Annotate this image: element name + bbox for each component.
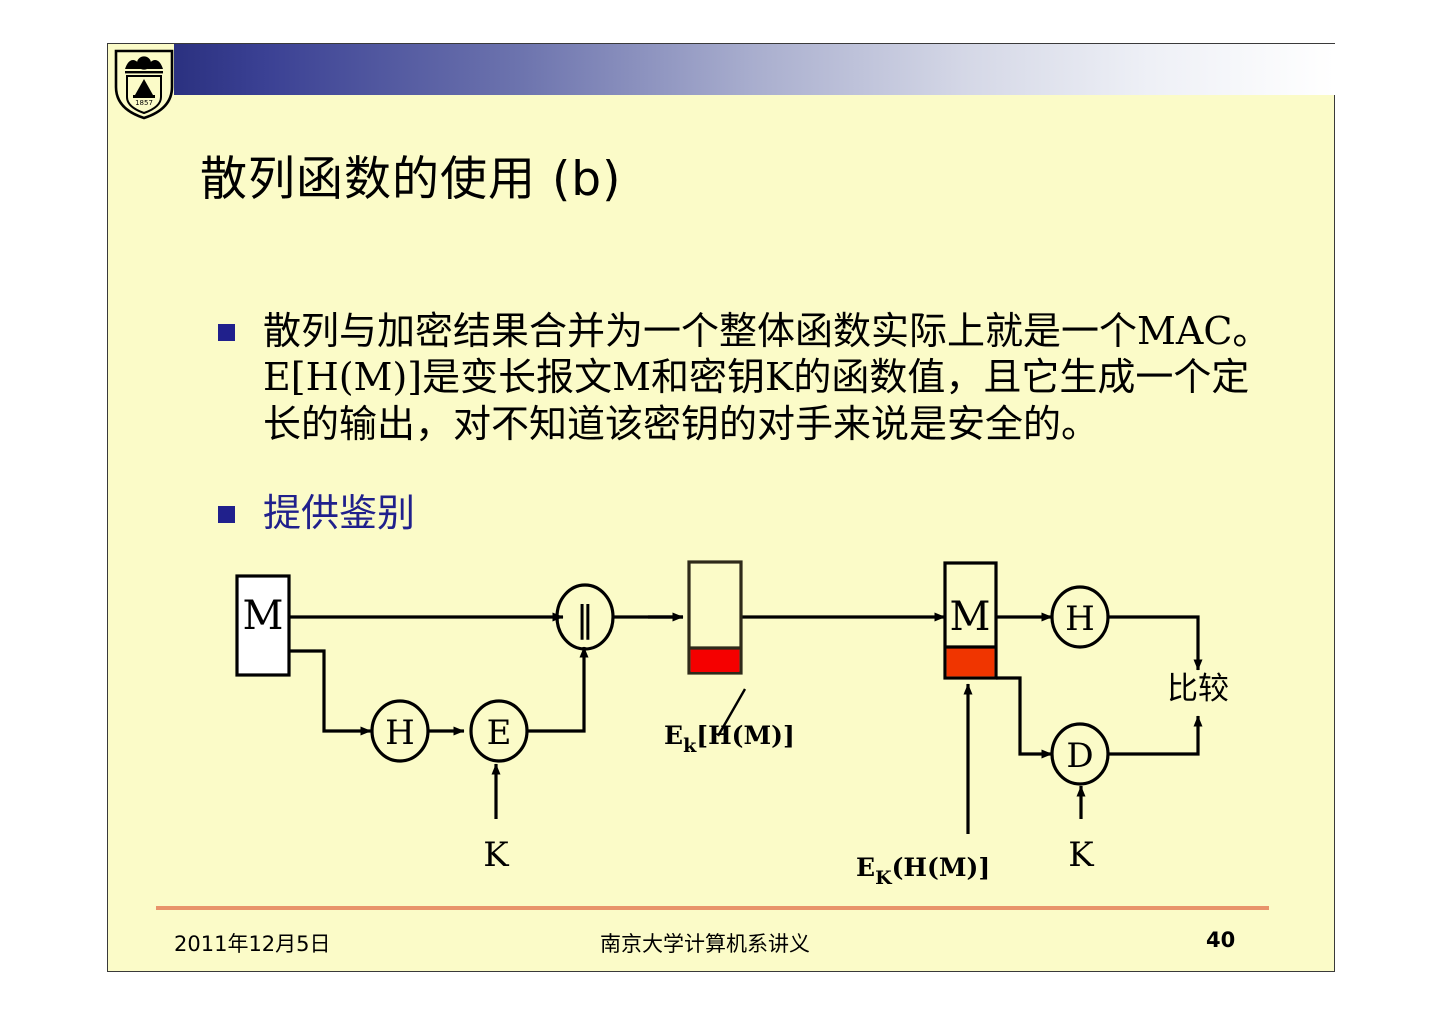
svg-text:EK(H(M)]: EK(H(M)] — [856, 853, 990, 889]
key-label-right: K — [1068, 835, 1094, 875]
decrypt-node-label: D — [1066, 736, 1093, 776]
concat-node-label: ‖ — [576, 599, 594, 640]
footer-center-text: 南京大学计算机系讲义 — [600, 928, 810, 958]
concat-node: ‖ — [557, 585, 613, 649]
cipher-callout-label: Ek[H(M)] — [664, 721, 795, 757]
footer-date: 2011年12月5日 — [174, 928, 331, 958]
received-message-label: M — [950, 594, 991, 640]
encrypt-node: E — [471, 701, 527, 761]
received-cipher-label: EK(H(M)] — [856, 853, 990, 889]
cipher-callout-rest: [H(M)] — [696, 721, 795, 750]
footer-page-number: 40 — [1206, 928, 1235, 952]
cipher-callout-sub: k — [683, 735, 697, 757]
cipher-callout-E: E — [664, 721, 683, 750]
compare-label: 比较 — [1167, 671, 1229, 707]
received-message-box: M — [945, 563, 996, 678]
source-message-label: M — [243, 593, 284, 639]
received-cipher-sub: K — [875, 867, 893, 889]
received-cipher-E: E — [856, 853, 875, 882]
svg-text:Ek[H(M)]: Ek[H(M)] — [664, 721, 795, 757]
transmitted-block-box — [689, 562, 741, 673]
hash-node-left-label: H — [385, 713, 415, 753]
hash-node-left: H — [372, 701, 428, 761]
hash-node-right: H — [1052, 587, 1108, 647]
slide-canvas: 1857 散列函数的使用 (b) 散列与加密结果合并为一个整体函数实际上就是一个… — [107, 43, 1335, 972]
encrypt-node-label: E — [487, 713, 512, 753]
hash-function-usage-diagram: M H E ‖ M — [108, 44, 1336, 973]
key-label-left: K — [483, 835, 509, 875]
decrypt-node: D — [1052, 724, 1108, 784]
hash-node-right-label: H — [1065, 599, 1095, 639]
footer-divider — [156, 906, 1269, 910]
received-cipher-rest: (H(M)] — [892, 853, 991, 882]
source-message-box: M — [237, 576, 289, 675]
